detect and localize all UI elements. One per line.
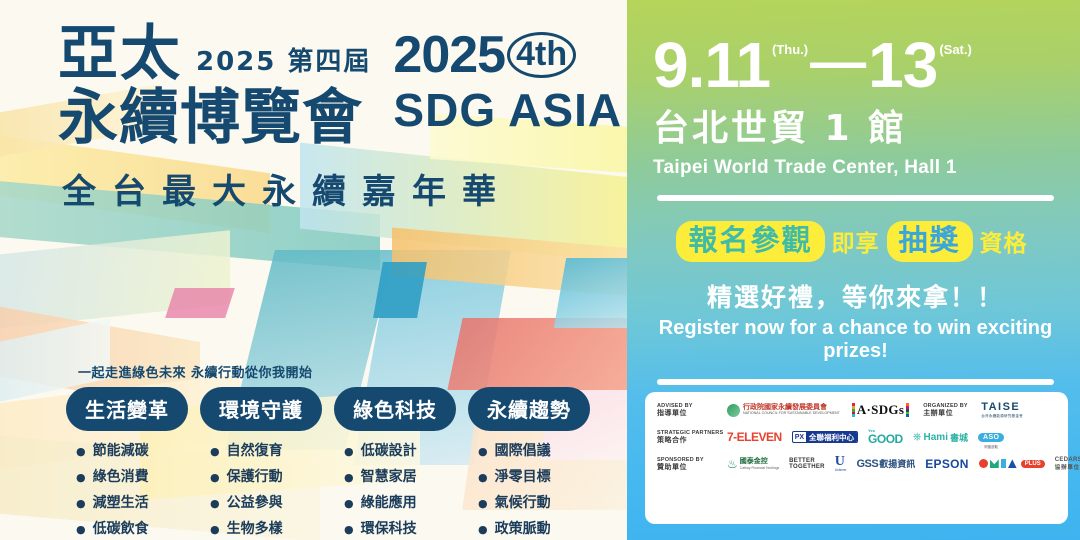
aso-badge: ASO [978, 433, 1004, 442]
category-item: ●環保科技 [344, 518, 456, 538]
gss-name: GSS [857, 458, 879, 470]
category-item-label: 綠色消費 [93, 469, 149, 485]
date-start: 9.11 [653, 34, 770, 97]
category-item-label: 政策脈動 [495, 521, 551, 537]
bullet-icon: ● [76, 523, 86, 536]
category-item-label: 淨零目標 [495, 469, 551, 485]
hami-leaf-icon: ⎈ [913, 431, 922, 444]
sponsor-label-cn: 贊助單位 [657, 463, 727, 471]
better-line2: TOGETHER [789, 464, 825, 470]
cathay-tree-icon: ♨ [727, 457, 738, 471]
category-item: ●政策脈動 [478, 518, 590, 538]
logo-cathay[interactable]: ♨ 國泰金控 Cathay Financial Holdings [727, 457, 779, 471]
category-title: 綠色科技 [334, 387, 456, 431]
logo-seven-eleven[interactable]: 7-ELEVEN [727, 430, 782, 444]
ncsd-name-en: NATIONAL COUNCIL FOR SUSTAINABLE DEVELOP… [743, 412, 840, 416]
sponsor-label-cn: 指導單位 [657, 409, 727, 417]
sponsor-row-sponsored: SPONSORED BY 贊助單位 ♨ 國泰金控 Cathay Financia… [657, 456, 1058, 473]
category-item-label: 保護行動 [227, 469, 283, 485]
cathay-name-en: Cathay Financial Holdings [740, 466, 779, 470]
logo-pxmart[interactable]: PX 全聯福利中心 [792, 431, 858, 443]
english-title-block: 2025 4th SDG ASIA [393, 26, 622, 137]
logo-hami-bookstore[interactable]: ⎈ Hami 書城 [913, 431, 968, 444]
logo-cedars[interactable]: CEDARS 協辦單位 [1055, 457, 1080, 471]
category-items: ●自然復育 ●保護行動 ●公益參與 ●生物多樣 [200, 440, 322, 538]
sponsor-label-advised: ADVISED BY 指導單位 [657, 403, 727, 417]
prize-message-cjk: 精選好禮，等你來拿！！ [653, 278, 1058, 314]
left-panel: 亞太 2025 第四屆 永續博覽會 2025 4th SDG ASIA 全台最大… [0, 0, 627, 540]
logo-gss[interactable]: GSS 叡揚資訊 [857, 457, 916, 470]
aso-sub: 阿瘦皮鞋 [978, 444, 1004, 449]
bullet-icon: ● [478, 445, 488, 458]
category-item: ●氣候行動 [478, 492, 590, 512]
bullet-icon: ● [344, 523, 354, 536]
ncsd-emblem-icon [727, 404, 740, 417]
english-year: 2025 [393, 32, 505, 79]
category-section: 一起走進綠色未來 永續行動從你我開始 生活變革 ●節能減碳 ●綠色消費 ●減塑生… [0, 362, 627, 540]
cta-register-pill[interactable]: 報名參觀 [676, 221, 824, 262]
date-end-weekday: (Sat.) [939, 34, 972, 57]
category-title: 永續趨勢 [468, 387, 590, 431]
registration-cta[interactable]: 報名參觀 即享 抽獎 資格 [653, 221, 1058, 262]
right-panel: 9.11 (Thu.) — 13 (Sat.) 台北世貿 1 館 Taipei … [627, 0, 1080, 540]
mia-triangle-icon [1008, 459, 1017, 468]
title-main-line2: 永續博覽會 [58, 86, 371, 151]
epson-name: EPSON [925, 457, 969, 471]
cta-tail-text: 資格 [980, 224, 1028, 258]
bullet-icon: ● [210, 445, 220, 458]
bullet-icon: ● [210, 497, 220, 510]
category-item: ●保護行動 [210, 466, 322, 486]
category-item: ●自然復育 [210, 440, 322, 460]
venue-name-cjk: 台北世貿 1 館 [653, 99, 1058, 151]
asdgs-name: A·SDGs [857, 402, 904, 418]
mia-m-icon [990, 459, 999, 468]
taise-sub: 台灣永續能源研究基金會 [981, 414, 1023, 419]
logo-taise[interactable]: TAISE 台灣永續能源研究基金會 [981, 402, 1023, 419]
category-card[interactable]: 生活變革 ●節能減碳 ●綠色消費 ●減塑生活 ●低碳飲食 [66, 387, 188, 540]
category-item-label: 自然復育 [227, 443, 283, 459]
sponsor-label-cn: 策略合作 [657, 436, 727, 444]
bullet-icon: ● [210, 523, 220, 536]
event-title-block: 亞太 2025 第四屆 永續博覽會 2025 4th SDG ASIA [0, 26, 627, 150]
category-item: ●國際倡議 [478, 440, 590, 460]
sponsor-row-advised: ADVISED BY 指導單位 行政院國家永續發展委員會 NATIONAL CO… [657, 402, 1058, 419]
category-item-label: 低碳設計 [361, 443, 417, 459]
title-main-line1: 亞太 [58, 26, 182, 84]
logo-epson[interactable]: EPSON [925, 457, 969, 471]
category-card[interactable]: 綠色科技 ●低碳設計 ●智慧家居 ●綠能應用 ●環保科技 [334, 387, 456, 540]
logo-unilever[interactable]: U Unilever [835, 456, 847, 473]
asdgs-color-bars-icon [852, 403, 855, 417]
category-item-label: 生物多樣 [227, 521, 283, 537]
category-item: ●智慧家居 [344, 466, 456, 486]
bullet-icon: ● [76, 497, 86, 510]
bullet-icon: ● [478, 497, 488, 510]
category-item: ●生物多樣 [210, 518, 322, 538]
unilever-mark: U [835, 456, 847, 469]
category-card[interactable]: 永續趨勢 ●國際倡議 ●淨零目標 ●氣候行動 ●政策脈動 [468, 387, 590, 540]
category-item: ●公益參與 [210, 492, 322, 512]
logo-yes-good[interactable]: Yes GOOD [868, 429, 903, 445]
seven-eleven-name: 7-ELEVEN [727, 430, 782, 444]
category-item-label: 節能減碳 [93, 443, 149, 459]
category-list: 生活變革 ●節能減碳 ●綠色消費 ●減塑生活 ●低碳飲食 環境守護 ●自然復育 … [0, 387, 627, 540]
bullet-icon: ● [210, 471, 220, 484]
logo-aso[interactable]: ASO 阿瘦皮鞋 [978, 426, 1004, 449]
logo-ncsd[interactable]: 行政院國家永續發展委員會 NATIONAL COUNCIL FOR SUSTAI… [727, 404, 840, 417]
category-items: ●國際倡議 ●淨零目標 ●氣候行動 ●政策脈動 [468, 440, 590, 538]
bullet-icon: ● [344, 497, 354, 510]
category-title: 環境守護 [200, 387, 322, 431]
bullet-icon: ● [76, 471, 86, 484]
bullet-icon: ● [76, 445, 86, 458]
taise-name: TAISE [981, 402, 1023, 414]
cta-lottery-pill[interactable]: 抽獎 [887, 221, 973, 262]
date-end: 13 [868, 34, 937, 97]
logo-asdgs[interactable]: A·SDGs [850, 402, 911, 418]
category-items: ●低碳設計 ●智慧家居 ●綠能應用 ●環保科技 [334, 440, 456, 538]
category-item: ●低碳飲食 [76, 518, 188, 538]
category-item: ●節能減碳 [76, 440, 188, 460]
asdgs-color-bars-icon [906, 403, 909, 417]
bullet-icon: ● [478, 523, 488, 536]
date-range-dash: — [810, 34, 866, 89]
unilever-name: Unilever [835, 468, 847, 472]
category-slogan: 一起走進綠色未來 永續行動從你我開始 [0, 362, 627, 381]
category-card[interactable]: 環境守護 ●自然復育 ●保護行動 ●公益參與 ●生物多樣 [200, 387, 322, 540]
bullet-icon: ● [344, 445, 354, 458]
category-item-label: 綠能應用 [361, 495, 417, 511]
pxmart-mark: PX [793, 434, 806, 441]
cedars-name-cn: 協辦單位 [1055, 463, 1080, 471]
mia-circle-icon [979, 459, 988, 468]
english-event-name: SDG ASIA [393, 83, 622, 137]
category-item: ●減塑生活 [76, 492, 188, 512]
sponsor-label-organized: ORGANIZED BY 主辦單位 [923, 403, 981, 417]
divider-top [657, 195, 1054, 201]
cedars-name: CEDARS [1055, 457, 1080, 463]
title-edition-label: 2025 第四屆 [196, 41, 371, 84]
hami-name: Hami [924, 432, 948, 443]
gss-name-cn: 叡揚資訊 [879, 457, 915, 470]
bullet-icon: ● [478, 471, 488, 484]
category-item-label: 國際倡議 [495, 443, 551, 459]
sponsor-card: ADVISED BY 指導單位 行政院國家永續發展委員會 NATIONAL CO… [645, 392, 1068, 524]
date-start-weekday: (Thu.) [772, 34, 808, 57]
pxmart-name: 全聯福利中心 [806, 432, 857, 443]
category-item-label: 環保科技 [361, 521, 417, 537]
category-item-label: 智慧家居 [361, 469, 417, 485]
sponsor-label-sponsored: SPONSORED BY 贊助單位 [657, 457, 727, 471]
category-item: ●低碳設計 [344, 440, 456, 460]
sponsor-label-strategic: STRATEGIC PARTNERS 策略合作 [657, 430, 727, 444]
hami-name-cn: 書城 [950, 431, 968, 444]
category-item: ●綠色消費 [76, 466, 188, 486]
mia-plus-badge: PLUS [1021, 460, 1045, 468]
mia-bar-icon [1001, 459, 1006, 468]
category-item-label: 公益參與 [227, 495, 283, 511]
english-edition-badge: 4th [507, 32, 576, 78]
event-tagline: 全台最大永續嘉年華 [0, 164, 627, 213]
category-item: ●綠能應用 [344, 492, 456, 512]
category-items: ●節能減碳 ●綠色消費 ●減塑生活 ●低碳飲食 [66, 440, 188, 538]
category-item-label: 減塑生活 [93, 495, 149, 511]
logo-better-together[interactable]: BETTER TOGETHER [789, 458, 825, 471]
prize-message-english: Register now for a chance to win excitin… [653, 317, 1058, 363]
event-date-block: 9.11 (Thu.) — 13 (Sat.) [653, 34, 1058, 97]
cta-middle-text: 即享 [832, 224, 880, 258]
sponsor-row-strategic: STRATEGIC PARTNERS 策略合作 7-ELEVEN PX 全聯福利… [657, 426, 1058, 449]
category-title: 生活變革 [66, 387, 188, 431]
category-item-label: 低碳飲食 [93, 521, 149, 537]
cathay-name-cn: 國泰金控 [740, 458, 779, 466]
bullet-icon: ● [344, 471, 354, 484]
yes-good-name: GOOD [868, 433, 903, 445]
venue-name-english: Taipei World Trade Center, Hall 1 [653, 157, 1058, 179]
logo-mia[interactable]: PLUS [979, 459, 1045, 468]
category-item-label: 氣候行動 [495, 495, 551, 511]
sdg-asia-banner: 亞太 2025 第四屆 永續博覽會 2025 4th SDG ASIA 全台最大… [0, 0, 1080, 540]
sponsor-label2-cn: 主辦單位 [923, 409, 981, 417]
category-item: ●淨零目標 [478, 466, 590, 486]
divider-bottom [657, 379, 1054, 385]
